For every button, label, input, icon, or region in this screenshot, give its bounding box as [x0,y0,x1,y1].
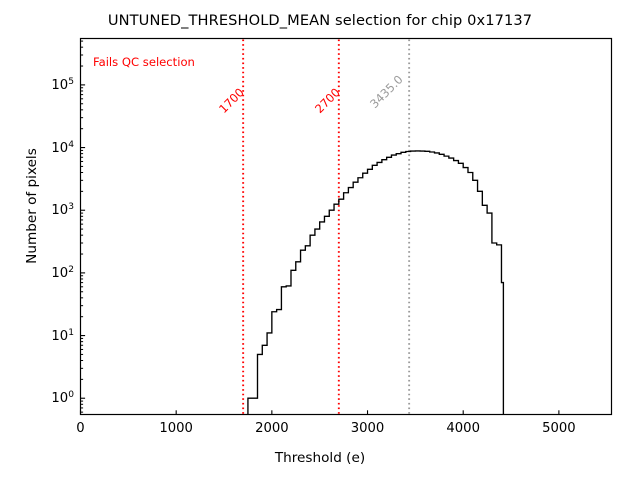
x-tick-label: 5000 [542,421,576,436]
plot-canvas [0,0,640,480]
x-tick-label: 0 [76,421,84,436]
y-tick-label: 101 [28,327,74,343]
threshold-vlines [243,40,409,415]
y-tick-label: 104 [28,139,74,155]
histogram-path [248,151,503,415]
x-tick-label: 2000 [255,421,289,436]
x-tick-label: 1000 [159,421,193,436]
y-tick-label: 102 [28,265,74,281]
y-tick-label: 103 [28,202,74,218]
y-tick-label: 105 [28,77,74,93]
x-tick-label: 3000 [351,421,385,436]
figure: UNTUNED_THRESHOLD_MEAN selection for chi… [0,0,640,480]
histogram-step-curve [248,151,503,415]
x-tick-label: 4000 [446,421,480,436]
axes-frame [81,39,612,415]
y-tick-label: 100 [28,390,74,406]
